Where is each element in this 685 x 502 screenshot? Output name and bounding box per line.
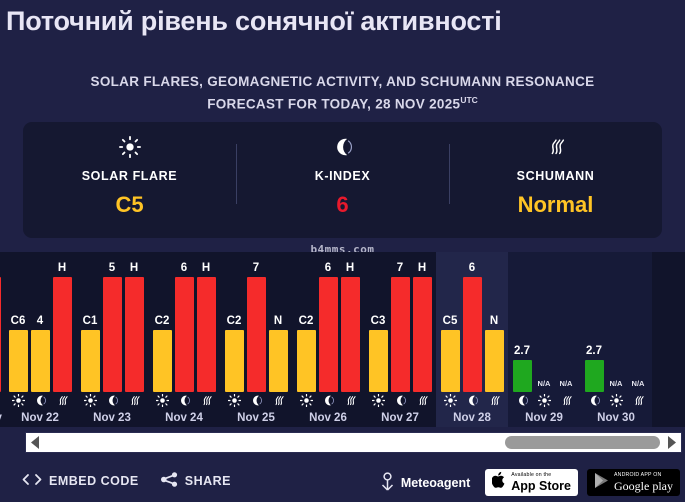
subtitle-line-2: FORECAST FOR TODAY, 28 NOV 2025 (207, 97, 460, 112)
chart-bar-schumann[interactable]: N/A (629, 252, 648, 392)
chart-day-label: Nov 29 (508, 409, 580, 427)
chart-day-bars: C26H (292, 252, 364, 392)
chart-bar-value: H (130, 262, 138, 275)
chart-day-column[interactable]: C27NNov 25 (220, 252, 292, 427)
chart-bar-fill (463, 277, 482, 392)
footer-actions: EMBED CODE SHARE (22, 472, 231, 490)
chart-bar-value: N/A (560, 377, 573, 390)
chart-bar-schumann[interactable]: N (485, 252, 504, 392)
chart-day-bars: C26H (148, 252, 220, 392)
chart-bar-value: N/A (610, 377, 623, 390)
chart-day-bars: 2.7N/AN/A (580, 252, 652, 392)
scroll-right-arrow-icon[interactable] (663, 434, 681, 451)
scroll-left-arrow-icon[interactable] (26, 434, 44, 451)
chart-bar-value: H (58, 262, 66, 275)
chart-bar-k-index[interactable]: 7 (247, 252, 266, 392)
chart-bar-value: 7 (253, 262, 259, 275)
subtitle-line-1: SOLAR FLARES, GEOMAGNETIC ACTIVITY, AND … (91, 74, 595, 89)
chart-day-bars: C15H (76, 252, 148, 392)
chart-bar-value: 5 (109, 262, 115, 275)
chart-bar-solar-flare[interactable]: C3 (369, 252, 388, 392)
chart-bar-fill (103, 277, 122, 392)
schumann-icon (545, 134, 567, 160)
chart-bar-fill (369, 330, 388, 392)
chart-bar-k-index[interactable]: 7 (391, 252, 410, 392)
chart-bar-k-index[interactable]: 5 (103, 252, 122, 392)
chart-bar-solar-flare[interactable]: C1 (81, 252, 100, 392)
embed-code-label: EMBED CODE (49, 474, 139, 488)
sun-icon (441, 394, 460, 407)
chart-bar-value: N/A (632, 377, 645, 390)
meteoagent-logo-icon (380, 472, 395, 494)
chart-bar-value: H (202, 262, 210, 275)
chart-bar-k-index[interactable]: 2.7 (585, 252, 604, 392)
chart-bar-k-index[interactable]: 4 (31, 252, 50, 392)
chart-bar-value: C2 (299, 315, 314, 328)
embed-code-button[interactable]: EMBED CODE (22, 473, 139, 489)
sun-icon (607, 394, 626, 407)
apple-logo-icon (492, 471, 507, 494)
sun-icon (225, 394, 244, 407)
chart-bar-value: C2 (227, 315, 242, 328)
subtitle-utc-sup: UTC (460, 95, 477, 105)
chart-bar-k-index[interactable]: 6 (463, 252, 482, 392)
sun-icon (81, 394, 100, 407)
schumann-icon (269, 394, 288, 407)
schumann-icon (341, 394, 360, 407)
chart-bar-fill (31, 330, 50, 392)
moon-icon (103, 394, 122, 407)
chart-scroll-content: Nov 21C64HNov 22C15HNov 23C26HNov 24C27N… (0, 252, 652, 427)
sun-icon (297, 394, 316, 407)
chart-bar-value: 2.7 (514, 345, 530, 358)
chart-day-bars: 2.7N/AN/A (508, 252, 580, 392)
solar-activity-widget: Поточний рівень сонячної активності SOLA… (0, 0, 685, 502)
chart-bar-schumann[interactable]: H (413, 252, 432, 392)
app-store-text: Available on the App Store (511, 473, 571, 493)
chart-bar-fill (341, 277, 360, 392)
chart-day-bars: C27N (220, 252, 292, 392)
chart-day-icons (436, 392, 508, 409)
chart-day-bars: C56N (436, 252, 508, 392)
chart-bar-schumann[interactable]: H (341, 252, 360, 392)
chart-bar-value: C1 (83, 315, 98, 328)
chart-day-column[interactable]: 2.7N/AN/ANov 30 (580, 252, 652, 427)
chart-bar-value: C5 (443, 315, 458, 328)
app-store-badge[interactable]: Available on the App Store (485, 469, 578, 496)
chart-day-icons (292, 392, 364, 409)
chart-bar-value: 6 (325, 262, 331, 275)
chart-horizontal-scrollbar[interactable] (25, 432, 682, 453)
chart-day-bars: C37H (364, 252, 436, 392)
chart-bar-schumann[interactable]: H (53, 252, 72, 392)
moon-icon (391, 394, 410, 407)
chart-bar-fill (125, 277, 144, 392)
chart-bar-solar-flare[interactable]: C6 (9, 252, 28, 392)
chart-day-column[interactable]: C56NNov 28 (436, 252, 508, 427)
chart-day-icons (580, 392, 652, 409)
chart-day-icons (4, 392, 76, 409)
chart-day-label: Nov 25 (220, 409, 292, 427)
chart-bar-solar-flare[interactable]: N/A (535, 252, 554, 392)
chart-day-column[interactable]: 2.7N/AN/ANov 29 (508, 252, 580, 427)
scrollbar-track[interactable] (44, 434, 663, 451)
chart-bar-fill (153, 330, 172, 392)
chart-bar-fill (269, 330, 288, 392)
google-play-big-label: Google play (614, 480, 673, 492)
schumann-icon (629, 394, 648, 407)
chart-day-bars: C64H (4, 252, 76, 392)
chart-bar-solar-flare[interactable]: N/A (607, 252, 626, 392)
chart-day-icons (364, 392, 436, 409)
chart-bar-value: 6 (181, 262, 187, 275)
chart-bar-solar-flare[interactable]: C2 (297, 252, 316, 392)
chart-day-label: Nov 24 (148, 409, 220, 427)
scrollbar-thumb[interactable] (505, 436, 660, 449)
chart-day-icons (148, 392, 220, 409)
moon-icon (319, 394, 338, 407)
meteoagent-brand[interactable]: Meteoagent (380, 472, 470, 494)
schumann-icon (485, 394, 504, 407)
chart-bar-value: H (346, 262, 354, 275)
share-icon (161, 472, 178, 490)
meteoagent-label: Meteoagent (401, 476, 470, 490)
chart-bar-fill (441, 330, 460, 392)
chart-bar-fill (9, 330, 28, 392)
chart-bar-schumann[interactable]: H (125, 252, 144, 392)
share-button[interactable]: SHARE (161, 472, 231, 490)
forecast-subtitle: SOLAR FLARES, GEOMAGNETIC ACTIVITY, AND … (0, 72, 685, 114)
page-title: Поточний рівень сонячної активності (6, 6, 502, 37)
moon-icon (463, 394, 482, 407)
sun-icon (535, 394, 554, 407)
moon-icon (247, 394, 266, 407)
chart-bar-value: 2.7 (586, 345, 602, 358)
schumann-icon (53, 394, 72, 407)
app-store-big-label: App Store (511, 480, 571, 493)
chart-bar-value: 4 (37, 315, 43, 328)
sun-icon (119, 134, 141, 160)
forecast-chart[interactable]: Nov 21C64HNov 22C15HNov 23C26HNov 24C27N… (0, 252, 685, 427)
summary-value-k-index: 6 (336, 192, 348, 218)
schumann-icon (197, 394, 216, 407)
summary-column-k-index[interactable]: K-INDEX 6 (236, 122, 449, 238)
chart-bar-fill (53, 277, 72, 392)
chart-day-column[interactable]: C26HNov 24 (148, 252, 220, 427)
chart-bar-fill (585, 360, 604, 392)
chart-bar-fill (297, 330, 316, 392)
google-play-badge[interactable]: ANDROID APP ON Google play (587, 469, 680, 496)
chart-bar-solar-flare[interactable]: C2 (153, 252, 172, 392)
summary-column-solar-flare[interactable]: SOLAR FLARE C5 (23, 122, 236, 238)
chart-bar-fill (319, 277, 338, 392)
summary-value-schumann: Normal (518, 192, 594, 218)
code-brackets-icon (22, 473, 42, 489)
chart-bar-fill (197, 277, 216, 392)
chart-bar-value: N (274, 315, 282, 328)
chart-day-column[interactable]: C26HNov 26 (292, 252, 364, 427)
chart-bar-fill (225, 330, 244, 392)
chart-bar-fill (0, 277, 1, 392)
google-play-text: ANDROID APP ON Google play (614, 473, 673, 492)
chart-bar-k-index[interactable]: 6 (175, 252, 194, 392)
google-play-triangle-icon (594, 472, 610, 494)
google-play-small-label: ANDROID APP ON (614, 473, 673, 478)
summary-column-schumann[interactable]: SCHUMANN Normal (449, 122, 662, 238)
chart-bar-schumann[interactable]: H (197, 252, 216, 392)
chart-bar-fill (175, 277, 194, 392)
chart-bar-schumann[interactable]: N (269, 252, 288, 392)
chart-bar-value: C2 (155, 315, 170, 328)
chart-bar-value: H (418, 262, 426, 275)
chart-bar-fill (391, 277, 410, 392)
chart-day-column[interactable]: C37HNov 27 (364, 252, 436, 427)
chart-day-icons (76, 392, 148, 409)
chart-bar-fill (485, 330, 504, 392)
share-label: SHARE (185, 474, 231, 488)
chart-bar-value: 7 (397, 262, 403, 275)
chart-day-label: Nov 22 (4, 409, 76, 427)
chart-bar-value: N/A (538, 377, 551, 390)
chart-day-label: Nov 27 (364, 409, 436, 427)
moon-icon (513, 394, 532, 407)
chart-day-label: Nov 23 (76, 409, 148, 427)
chart-bar-schumann[interactable]: N/A (557, 252, 576, 392)
summary-card: SOLAR FLARE C5 K-INDEX 6 SCHUMANN (23, 122, 662, 238)
summary-label-k-index: K-INDEX (315, 169, 371, 183)
chart-bar-fill (247, 277, 266, 392)
chart-bar-k-index[interactable]: 2.7 (513, 252, 532, 392)
footer: EMBED CODE SHARE (0, 462, 685, 502)
summary-label-schumann: SCHUMANN (517, 169, 595, 183)
moon-icon (585, 394, 604, 407)
sun-icon (9, 394, 28, 407)
moon-icon (31, 394, 50, 407)
chart-bar-solar-flare[interactable]: C2 (225, 252, 244, 392)
schumann-icon (413, 394, 432, 407)
chart-day-column[interactable]: C15HNov 23 (76, 252, 148, 427)
chart-bar-value: 6 (469, 262, 475, 275)
chart-bar-value: C3 (371, 315, 386, 328)
chart-day-icons (508, 392, 580, 409)
chart-bar-fill (413, 277, 432, 392)
chart-day-label: Nov 28 (436, 409, 508, 427)
sun-icon (153, 394, 172, 407)
chart-bar-value: C6 (11, 315, 26, 328)
schumann-icon (125, 394, 144, 407)
sun-icon (369, 394, 388, 407)
moon-icon (332, 134, 354, 160)
chart-day-label: Nov 30 (580, 409, 652, 427)
summary-value-solar-flare: C5 (115, 192, 143, 218)
app-store-small-label: Available on the (511, 473, 571, 478)
chart-bar-fill (513, 360, 532, 392)
chart-bar-solar-flare[interactable]: C5 (441, 252, 460, 392)
summary-label-solar-flare: SOLAR FLARE (82, 169, 178, 183)
chart-bar-fill (81, 330, 100, 392)
chart-bar-k-index[interactable]: 6 (319, 252, 338, 392)
footer-brand-and-stores: Meteoagent Available on the App Store (380, 469, 680, 496)
chart-bar-value: N (490, 315, 498, 328)
moon-icon (175, 394, 194, 407)
chart-day-label: Nov 26 (292, 409, 364, 427)
schumann-icon (557, 394, 576, 407)
chart-bar-schumann[interactable] (0, 252, 1, 392)
chart-day-column[interactable]: C64HNov 22 (4, 252, 76, 427)
chart-day-icons (220, 392, 292, 409)
